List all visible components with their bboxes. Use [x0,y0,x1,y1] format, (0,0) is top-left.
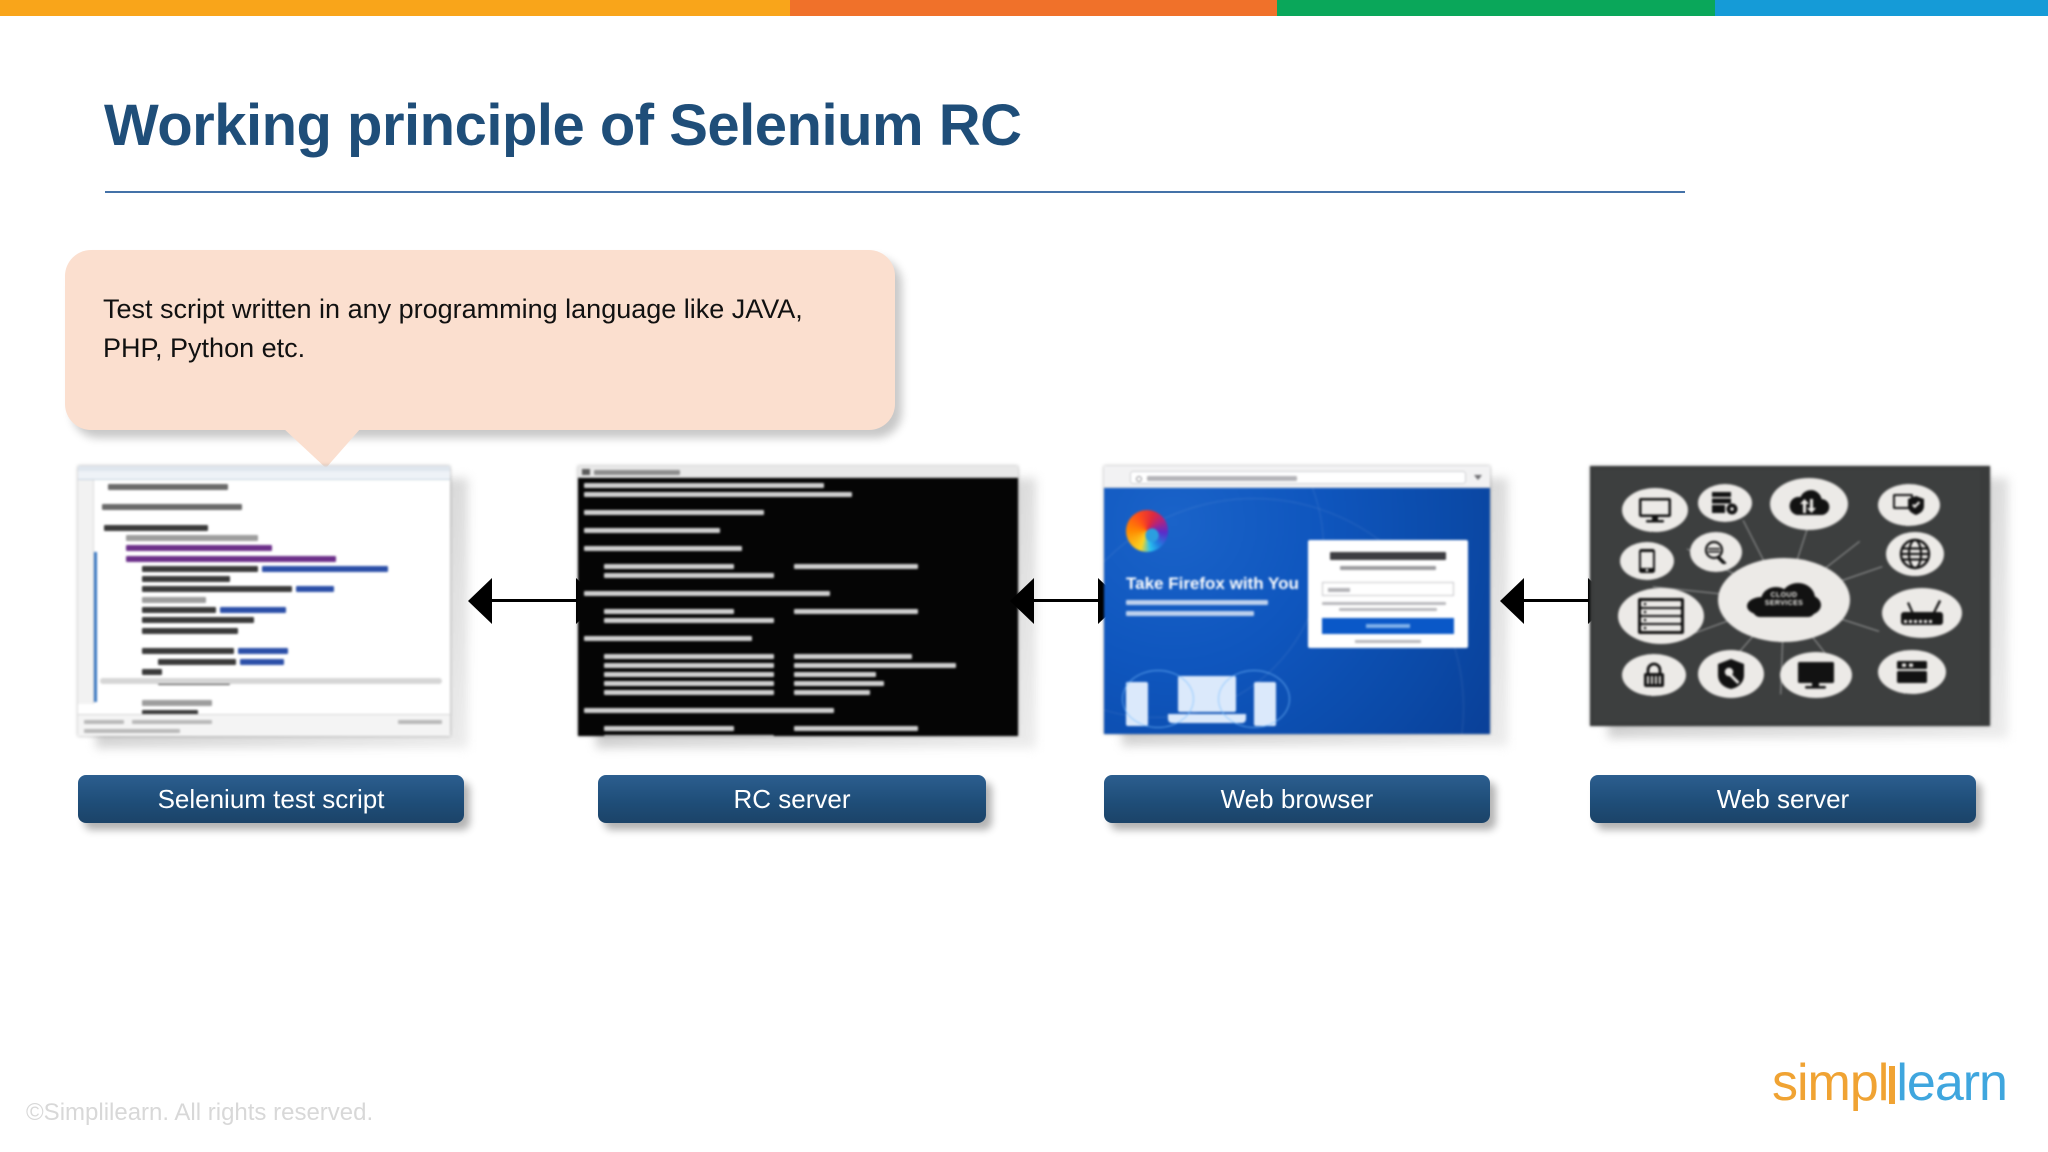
ide-editor-area [78,480,450,704]
node-padlock [1622,654,1686,696]
arrowhead-left [1500,578,1524,624]
ide-horizontal-scrollbar[interactable] [100,678,442,684]
firefox-sync-page: Take Firefox with You [1104,488,1490,734]
cmd-output-area [578,478,1018,736]
email-placeholder [1328,588,1350,592]
caption-web-browser[interactable]: Web browser [1104,775,1490,823]
padlock-icon [1640,661,1668,689]
node-desktop [1780,652,1852,698]
cmd-window-title [594,470,680,475]
top-color-bar [0,0,2048,16]
arrowhead-left [1010,578,1034,624]
monitor-icon [1638,497,1672,523]
desktop-icon [1797,661,1835,689]
ide-line-number-gutter [78,480,94,704]
brand-i-bar [1889,1066,1895,1104]
topbar-segment-blue [1715,0,2048,16]
screenshot-web-server[interactable]: CLOUDSERVICES [1590,466,1990,726]
console-icon [582,469,590,475]
callout-text: Test script written in any programming l… [103,290,863,368]
node-rack-server [1618,588,1704,644]
node-tablet [1620,542,1674,580]
screenshot-selenium-test-script[interactable] [78,466,450,736]
card-link-1[interactable] [1355,640,1421,643]
globe-icon [1899,538,1931,570]
node-storage [1878,650,1946,694]
email-field[interactable] [1322,582,1454,596]
cloud-center-node: CLOUDSERVICES [1718,558,1850,642]
browser-chrome [1104,466,1490,488]
cloud-services-diagram: CLOUDSERVICES [1590,466,1990,726]
shield-check-icon [1892,492,1926,518]
topbar-segment-green [1277,0,1715,16]
cloud-center-label: CLOUDSERVICES [1747,592,1821,608]
router-icon [1899,598,1945,628]
caption-web-server[interactable]: Web server [1590,775,1976,823]
cmd-title-bar [578,466,1018,478]
brand-prefix: simpl [1772,1054,1888,1112]
ide-code-block [100,482,446,736]
page-title: Working principle of Selenium RC [104,92,1021,159]
caption-label: Web server [1717,784,1849,815]
arrow-shaft [1032,599,1100,602]
continue-button[interactable] [1322,618,1454,634]
chevron-down-icon[interactable] [1474,475,1482,480]
sync-email-card [1308,540,1468,648]
arrow-shaft [1522,599,1590,602]
caption-rc-server[interactable]: RC server [598,775,986,823]
node-shield-check [1878,484,1940,526]
node-magnifier [1690,532,1742,572]
title-divider [105,191,1685,193]
command-prompt-window [578,466,1018,736]
card-fine-print [1322,602,1454,614]
tablet-icon [1638,548,1656,574]
address-bar-placeholder [1147,476,1297,481]
arrowhead-left [468,578,492,624]
node-router [1882,588,1962,638]
address-bar[interactable] [1130,471,1466,484]
card-title [1330,552,1446,560]
callout-tail [283,428,361,468]
devices-illustration [1124,668,1294,730]
magnifier-icon [1702,540,1730,564]
node-cloud-transfer [1770,478,1848,530]
card-subtitle [1340,566,1436,570]
ide-tab-bar [78,471,450,480]
caption-label: Web browser [1221,784,1374,815]
node-shield-key [1698,650,1764,698]
server-lock-icon [1711,491,1739,515]
topbar-segment-amber [0,0,790,16]
caption-label: RC server [733,784,850,815]
firefox-page-heading: Take Firefox with You [1126,574,1299,594]
copyright-text: ©Simplilearn. All rights reserved. [26,1099,373,1127]
ide-status-bar [78,714,450,736]
cloud-diagram-canvas: CLOUDSERVICES [1594,470,1980,722]
cloud-shape-icon: CLOUDSERVICES [1747,583,1821,617]
brand-suffix: learn [1896,1054,2007,1112]
firefox-logo-icon [1126,510,1168,552]
cloud-updown-icon [1787,489,1831,519]
caption-selenium-test-script[interactable]: Selenium test script [78,775,464,823]
ide-change-marker [94,552,97,702]
ide-window [78,466,450,736]
arrow-shaft [490,599,578,602]
node-globe [1886,532,1944,576]
continue-label [1366,624,1410,628]
callout-bubble: Test script written in any programming l… [65,250,895,466]
screenshot-rc-server[interactable] [578,466,1018,736]
firefox-page-subtext [1126,600,1276,622]
node-server-lock [1698,484,1752,522]
rack-server-icon [1637,597,1685,635]
topbar-segment-orange [790,0,1277,16]
caption-label: Selenium test script [158,784,385,815]
firefox-window: Take Firefox with You [1104,466,1490,734]
screenshot-web-browser[interactable]: Take Firefox with You [1104,466,1490,734]
shield-key-icon [1716,658,1746,690]
node-monitor [1622,488,1688,532]
simplilearn-logo: simpllearn [1772,1053,2007,1113]
search-icon [1136,476,1142,482]
storage-icon [1895,659,1929,685]
